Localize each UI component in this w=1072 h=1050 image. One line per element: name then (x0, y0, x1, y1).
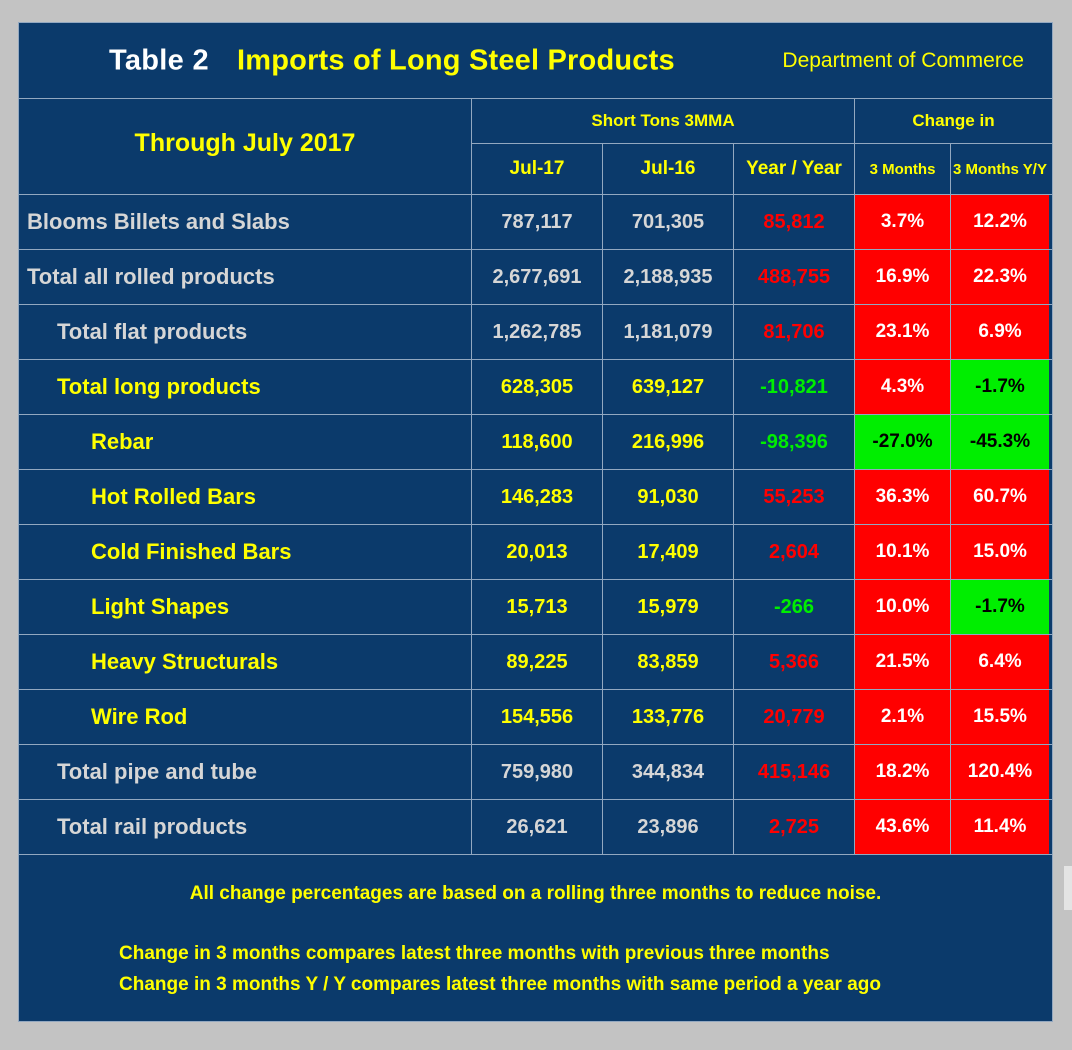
cell-jul17: 20,013 (472, 525, 603, 579)
table-card: Table 2 Imports of Long Steel Products D… (18, 22, 1053, 1022)
table-row: Wire Rod154,556133,77620,7792.1%15.5% (19, 690, 1052, 745)
cell-jul16: 2,188,935 (603, 250, 734, 304)
header-column-groups: Short Tons 3MMA Change in Jul-17 Jul-16 … (472, 99, 1052, 194)
cell-change-3-months: 21.5% (855, 635, 951, 689)
cell-year-over-year: 20,779 (734, 690, 855, 744)
cell-change-3-months-yy: -1.7% (951, 360, 1049, 414)
cell-change-3-months-yy: 6.9% (951, 305, 1049, 359)
cell-jul16: 91,030 (603, 470, 734, 524)
cell-jul16: 701,305 (603, 195, 734, 249)
cell-jul17: 154,556 (472, 690, 603, 744)
cell-year-over-year: 2,604 (734, 525, 855, 579)
row-label: Blooms Billets and Slabs (19, 195, 472, 249)
table-row: Heavy Structurals89,22583,8595,36621.5%6… (19, 635, 1052, 690)
cell-jul16: 1,181,079 (603, 305, 734, 359)
cell-jul17: 15,713 (472, 580, 603, 634)
header-stub-period: Through July 2017 (19, 99, 472, 194)
row-label: Light Shapes (19, 580, 472, 634)
page-root: Table 2 Imports of Long Steel Products D… (0, 0, 1072, 1050)
cell-jul17: 2,677,691 (472, 250, 603, 304)
cell-year-over-year: -10,821 (734, 360, 855, 414)
table-row: Total all rolled products2,677,6912,188,… (19, 250, 1052, 305)
header-group-row: Short Tons 3MMA Change in (472, 99, 1052, 144)
cell-jul16: 83,859 (603, 635, 734, 689)
cell-change-3-months: 23.1% (855, 305, 951, 359)
table-row: Total long products628,305639,127-10,821… (19, 360, 1052, 415)
table-row: Light Shapes15,71315,979-26610.0%-1.7% (19, 580, 1052, 635)
cell-jul17: 89,225 (472, 635, 603, 689)
header-col-3-months: 3 Months (855, 144, 951, 194)
header-group-short-tons: Short Tons 3MMA (472, 99, 855, 143)
cell-change-3-months-yy: 15.0% (951, 525, 1049, 579)
header-col-year-over-year: Year / Year (734, 144, 855, 194)
cell-jul16: 17,409 (603, 525, 734, 579)
cell-jul16: 133,776 (603, 690, 734, 744)
table-row: Cold Finished Bars20,01317,4092,60410.1%… (19, 525, 1052, 580)
row-label: Heavy Structurals (19, 635, 472, 689)
cell-jul16: 639,127 (603, 360, 734, 414)
cell-change-3-months: 10.1% (855, 525, 951, 579)
table-row: Total rail products26,62123,8962,72543.6… (19, 800, 1052, 855)
title-bar: Table 2 Imports of Long Steel Products D… (19, 23, 1052, 99)
cell-change-3-months: 2.1% (855, 690, 951, 744)
cell-jul17: 26,621 (472, 800, 603, 854)
row-label: Total all rolled products (19, 250, 472, 304)
header-group-change-in: Change in (855, 99, 1052, 143)
table-body: Blooms Billets and Slabs787,117701,30585… (19, 195, 1052, 855)
row-label: Total pipe and tube (19, 745, 472, 799)
footnote-3-months-yy: Change in 3 months Y / Y compares latest… (119, 974, 881, 996)
cell-jul17: 787,117 (472, 195, 603, 249)
row-label: Total long products (19, 360, 472, 414)
cell-change-3-months-yy: 60.7% (951, 470, 1049, 524)
cell-change-3-months-yy: 12.2% (951, 195, 1049, 249)
cell-change-3-months: 3.7% (855, 195, 951, 249)
cell-year-over-year: 415,146 (734, 745, 855, 799)
cell-change-3-months: 10.0% (855, 580, 951, 634)
table-row: Total pipe and tube759,980344,834415,146… (19, 745, 1052, 800)
table-row: Blooms Billets and Slabs787,117701,30585… (19, 195, 1052, 250)
table-number: Table 2 (109, 44, 209, 77)
header-col-jul16: Jul-16 (603, 144, 734, 194)
cell-change-3-months-yy: 15.5% (951, 690, 1049, 744)
footnote-primary: All change percentages are based on a ro… (19, 883, 1052, 905)
cell-change-3-months-yy: 120.4% (951, 745, 1049, 799)
cell-year-over-year: -98,396 (734, 415, 855, 469)
cell-jul16: 216,996 (603, 415, 734, 469)
row-label: Cold Finished Bars (19, 525, 472, 579)
row-label: Rebar (19, 415, 472, 469)
header-col-jul17: Jul-17 (472, 144, 603, 194)
cell-change-3-months-yy: -1.7% (951, 580, 1049, 634)
cell-jul17: 628,305 (472, 360, 603, 414)
cell-jul16: 344,834 (603, 745, 734, 799)
row-label: Total rail products (19, 800, 472, 854)
cell-year-over-year: -266 (734, 580, 855, 634)
footnote-3-months: Change in 3 months compares latest three… (119, 943, 830, 965)
table-row: Hot Rolled Bars146,28391,03055,25336.3%6… (19, 470, 1052, 525)
cell-year-over-year: 488,755 (734, 250, 855, 304)
cell-change-3-months: 43.6% (855, 800, 951, 854)
cell-change-3-months: 4.3% (855, 360, 951, 414)
cell-jul16: 23,896 (603, 800, 734, 854)
table-header: Through July 2017 Short Tons 3MMA Change… (19, 99, 1052, 195)
table-row: Total flat products1,262,7851,181,07981,… (19, 305, 1052, 360)
table-row: Rebar118,600216,996-98,396-27.0%-45.3% (19, 415, 1052, 470)
cell-jul17: 118,600 (472, 415, 603, 469)
cell-change-3-months-yy: 22.3% (951, 250, 1049, 304)
data-source-label: Department of Commerce (782, 49, 1024, 73)
edge-artifact (1064, 866, 1072, 910)
cell-jul17: 759,980 (472, 745, 603, 799)
cell-year-over-year: 5,366 (734, 635, 855, 689)
cell-change-3-months: 16.9% (855, 250, 951, 304)
row-label: Hot Rolled Bars (19, 470, 472, 524)
page-title: Imports of Long Steel Products (237, 44, 675, 77)
cell-change-3-months: -27.0% (855, 415, 951, 469)
cell-jul17: 1,262,785 (472, 305, 603, 359)
row-label: Total flat products (19, 305, 472, 359)
row-label: Wire Rod (19, 690, 472, 744)
cell-year-over-year: 85,812 (734, 195, 855, 249)
cell-change-3-months: 36.3% (855, 470, 951, 524)
cell-change-3-months-yy: 11.4% (951, 800, 1049, 854)
cell-year-over-year: 2,725 (734, 800, 855, 854)
cell-year-over-year: 55,253 (734, 470, 855, 524)
cell-change-3-months: 18.2% (855, 745, 951, 799)
header-col-3-months-yy: 3 Months Y/Y (951, 144, 1049, 194)
footer-notes: All change percentages are based on a ro… (19, 855, 1052, 1021)
cell-year-over-year: 81,706 (734, 305, 855, 359)
cell-jul16: 15,979 (603, 580, 734, 634)
header-subcolumn-row: Jul-17 Jul-16 Year / Year 3 Months 3 Mon… (472, 144, 1052, 194)
cell-jul17: 146,283 (472, 470, 603, 524)
cell-change-3-months-yy: 6.4% (951, 635, 1049, 689)
cell-change-3-months-yy: -45.3% (951, 415, 1049, 469)
